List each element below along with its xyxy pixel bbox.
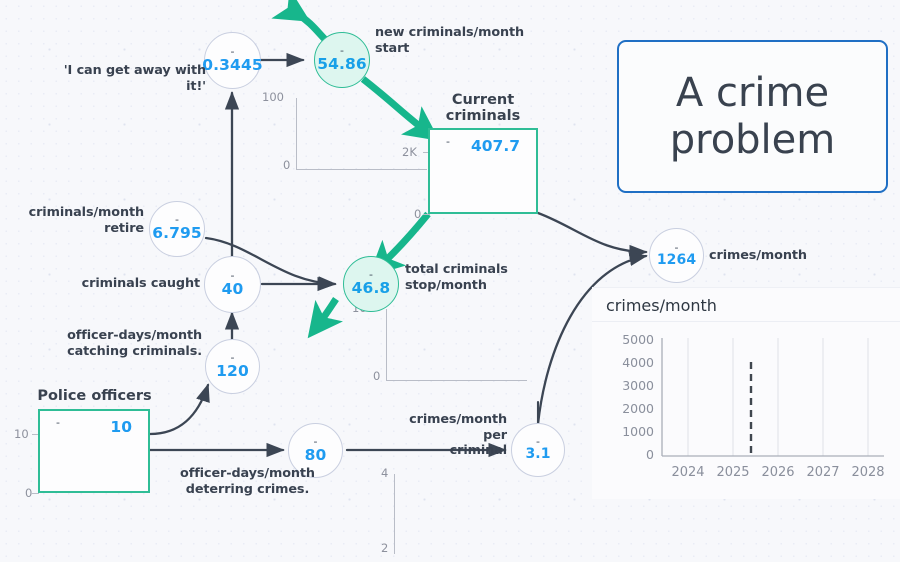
node-dash: - <box>340 47 344 55</box>
chart-svg: 5000 4000 3000 2000 1000 0 <box>592 322 900 497</box>
chart-x-ticks: 2024 2025 2026 2027 2028 <box>671 465 884 480</box>
label-criminals-retire: criminals/month retire <box>26 205 144 236</box>
node-value: 54.86 <box>317 55 367 73</box>
label-line2: catching criminals. <box>60 344 202 360</box>
sparkline-axis-max: 100 <box>262 90 284 104</box>
x-tick: 2027 <box>806 465 839 480</box>
link-stock-to-crimes <box>538 213 646 252</box>
sparkline-axis-min: 2 <box>381 541 388 555</box>
node-dash: - <box>536 438 540 446</box>
stock-title-line1: Current <box>413 92 553 108</box>
y-tick: 3000 <box>622 378 654 393</box>
chart-title: crimes/month <box>592 288 900 322</box>
label-total-criminals-stop: total criminals stop/month <box>405 262 550 293</box>
stock-dash: - <box>56 418 60 427</box>
flow-stock-to-totalstop <box>381 214 428 265</box>
chart-axes <box>662 338 884 456</box>
node-value: 3.1 <box>525 446 550 462</box>
label-line1: officer-days/month <box>60 328 202 344</box>
x-tick: 2028 <box>851 465 884 480</box>
label-line1: criminals caught <box>72 276 200 292</box>
label-line1: new criminals/month <box>375 25 545 41</box>
label-line1: criminals/month <box>26 205 144 221</box>
x-tick: 2026 <box>761 465 794 480</box>
label-line1: total criminals <box>405 262 550 278</box>
title-card-text: A crime problem <box>670 70 836 164</box>
node-dash: - <box>369 271 373 279</box>
node-dash: - <box>675 244 679 252</box>
y-tick: 1000 <box>622 424 654 439</box>
chart-gridlines <box>688 338 868 456</box>
node-crimes-per-criminal[interactable]: - 3.1 <box>511 423 565 477</box>
sparkline-axis-min: 0 <box>283 158 290 172</box>
node-new-criminals-start[interactable]: - 54.86 <box>314 32 370 88</box>
stock-axis-max: 2K <box>402 145 417 159</box>
stock-title-line1: Police officers <box>22 388 167 404</box>
title-line2: problem <box>670 117 836 164</box>
label-officer-days-deterring: officer-days/month deterring crimes. <box>165 466 330 497</box>
label-crimes-per-month: crimes/month <box>709 248 829 264</box>
node-value: 46.8 <box>352 279 391 297</box>
label-get-away-with-it: 'I can get away with it!' <box>56 63 206 94</box>
node-dash: - <box>231 272 235 280</box>
stock-dash: - <box>446 137 450 146</box>
label-line2: retire <box>26 221 144 237</box>
flow-totalstop-to-sink <box>318 299 336 325</box>
label-criminals-caught: criminals caught <box>72 276 200 292</box>
node-dash: - <box>231 48 235 56</box>
stock-title-police-officers: Police officers <box>22 388 167 404</box>
sparkline-y-axis <box>394 474 395 554</box>
model-canvas[interactable]: 100 0 100 0 4 2 Current criminals - 407.… <box>0 0 900 562</box>
label-line1: crimes/month per <box>385 412 507 443</box>
x-tick: 2025 <box>716 465 749 480</box>
label-line1: crimes/month <box>709 248 829 264</box>
stock-axis-min: 0 <box>414 207 421 221</box>
sparkline-y-axis <box>386 309 387 381</box>
y-tick: 0 <box>646 447 654 462</box>
sparkline-total-stop: 100 0 <box>352 307 527 387</box>
node-value: 80 <box>305 446 327 464</box>
node-criminals-retire[interactable]: - 6.795 <box>149 201 205 257</box>
y-tick: 2000 <box>622 401 654 416</box>
stock-axis-tick-min <box>32 493 39 494</box>
y-tick: 5000 <box>622 332 654 347</box>
y-tick: 4000 <box>622 355 654 370</box>
label-line2: it!' <box>56 79 206 95</box>
node-value: 0.3445 <box>202 56 262 74</box>
label-crimes-per-criminal: crimes/month per criminal <box>385 412 507 459</box>
chart-plot-area[interactable]: 5000 4000 3000 2000 1000 0 <box>592 322 900 497</box>
label-line2: stop/month <box>405 278 550 294</box>
label-line1: officer-days/month <box>165 466 330 482</box>
node-dash: - <box>314 438 318 446</box>
node-officer-days-catching[interactable]: - 120 <box>205 339 260 394</box>
x-tick: 2024 <box>671 465 704 480</box>
label-line1: 'I can get away with <box>56 63 206 79</box>
stock-title-current-criminals: Current criminals <box>413 92 553 124</box>
node-get-away-with-it[interactable]: - 0.3445 <box>204 32 261 89</box>
node-value: 40 <box>222 280 244 298</box>
node-crimes-per-month[interactable]: - 1264 <box>649 228 704 283</box>
sparkline-y-axis <box>296 98 297 170</box>
node-total-criminals-stop[interactable]: - 46.8 <box>343 256 399 312</box>
label-officer-days-catching: officer-days/month catching criminals. <box>60 328 202 359</box>
stock-current-criminals[interactable]: - 407.7 <box>428 128 538 214</box>
label-line2: deterring crimes. <box>165 482 330 498</box>
stock-police-officers[interactable]: - 10 <box>38 409 150 493</box>
node-value: 6.795 <box>152 224 202 242</box>
stock-value: 10 <box>110 418 132 436</box>
chart-y-ticks: 5000 4000 3000 2000 1000 0 <box>622 332 654 462</box>
chart-panel[interactable]: crimes/month 5000 4000 3000 2000 1000 0 <box>592 287 900 499</box>
node-dash: - <box>231 354 235 362</box>
sparkline-axis-min: 0 <box>373 369 380 383</box>
label-line2: criminal <box>385 443 507 459</box>
stock-axis-max: 10 <box>14 427 29 441</box>
node-value: 120 <box>216 362 249 380</box>
label-new-criminals-start: new criminals/month start <box>375 25 545 56</box>
title-line1: A crime <box>670 70 836 117</box>
sparkline-axis-max: 4 <box>381 466 388 480</box>
label-line2: start <box>375 41 545 57</box>
title-card[interactable]: A crime problem <box>617 40 888 193</box>
stock-value: 407.7 <box>471 137 520 155</box>
node-value: 1264 <box>657 252 696 268</box>
stock-title-line2: criminals <box>413 108 553 124</box>
sparkline-x-axis <box>386 380 527 381</box>
stock-axis-tick-min <box>423 214 430 215</box>
sparkline-crimes-per-criminal: 4 2 <box>378 472 418 552</box>
node-criminals-caught[interactable]: - 40 <box>204 256 261 313</box>
node-dash: - <box>175 216 179 224</box>
